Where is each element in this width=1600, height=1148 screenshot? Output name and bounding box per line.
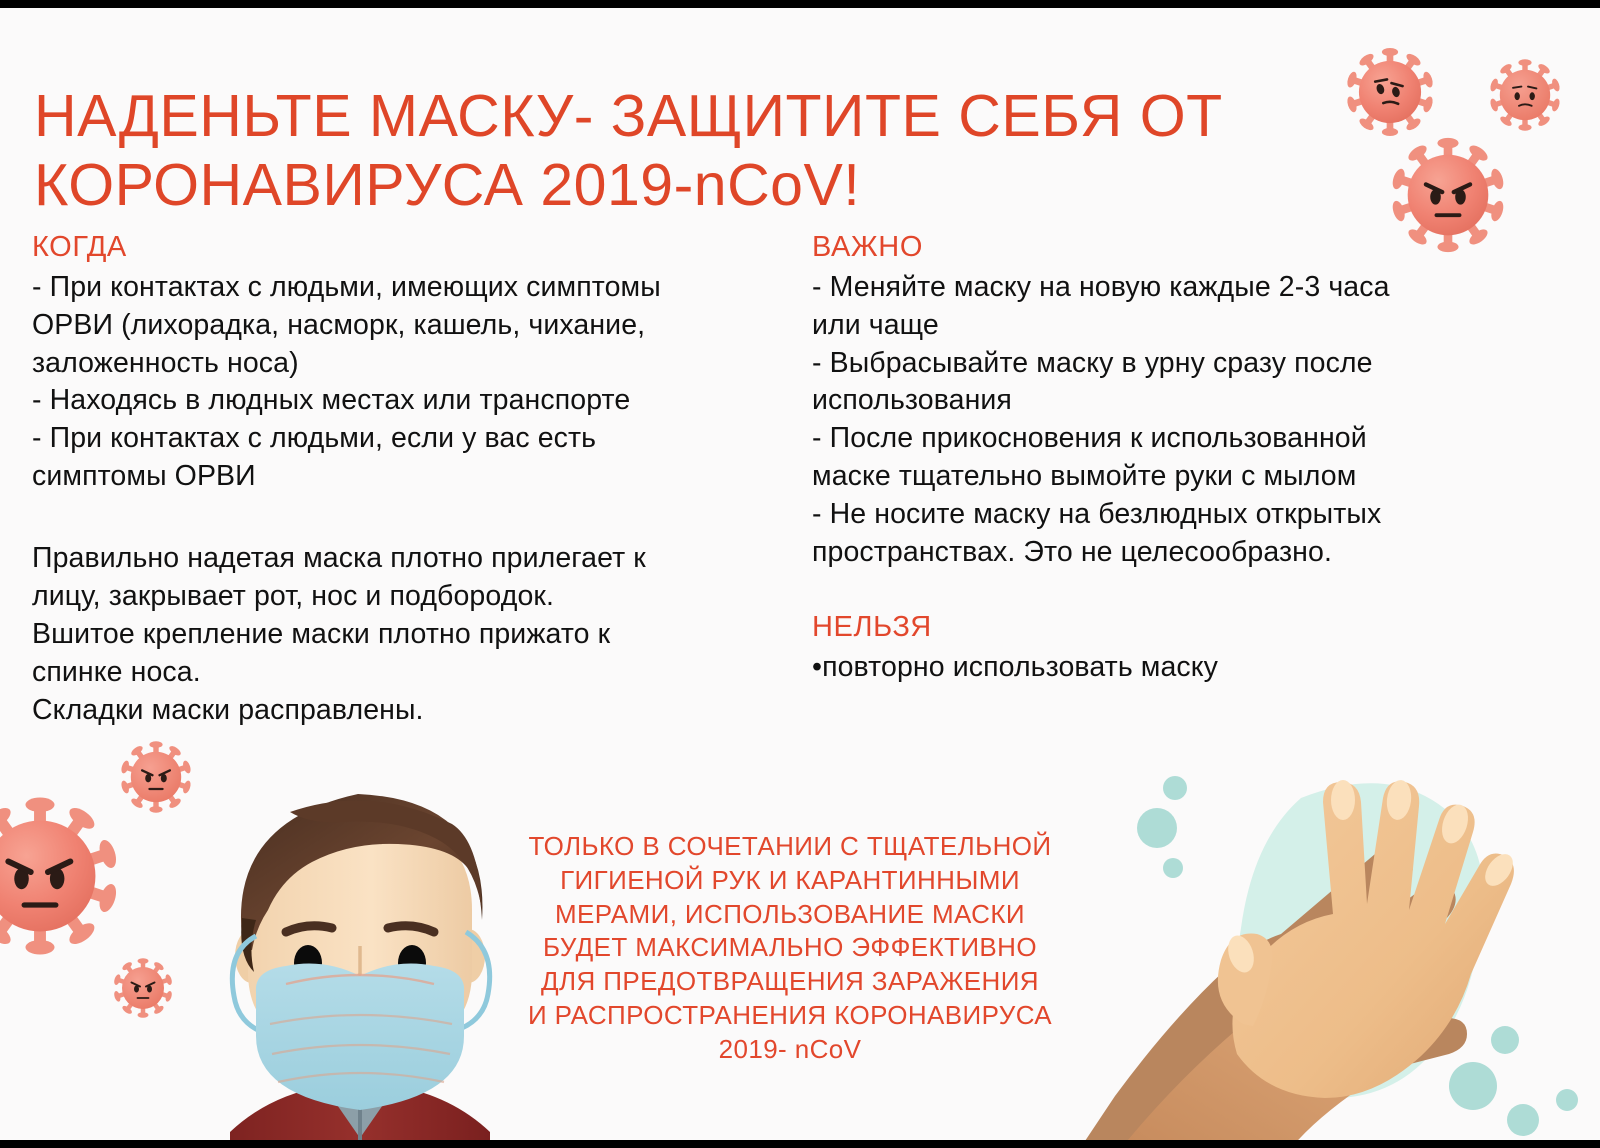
mask-loop-right <box>462 932 490 1028</box>
hair <box>241 794 482 972</box>
nail <box>1480 849 1519 891</box>
ear-right <box>451 929 485 983</box>
virus-icon <box>1489 59 1561 130</box>
surgical-mask <box>256 964 464 1110</box>
soap-foam <box>1237 783 1483 1098</box>
kogda-list: - При контактах с людьми, имеющих симпто… <box>32 269 792 496</box>
virus-icon <box>1346 48 1435 136</box>
nail <box>1437 801 1472 846</box>
left-column: КОГДА - При контактах с людьми, имеющих … <box>32 230 792 730</box>
boy-with-mask-illustration <box>190 760 530 1148</box>
virus-icon <box>0 797 119 954</box>
bubble <box>1137 808 1177 848</box>
virus-icon <box>120 741 192 812</box>
vazhno-list: - Меняйте маску на новую каждые 2-3 часа… <box>812 269 1512 572</box>
shirt <box>230 1080 490 1148</box>
nose <box>350 946 360 980</box>
infographic-poster: НАДЕНЬТЕ МАСКУ- ЗАЩИТИТЕ СЕБЯ ОТ КОРОНАВ… <box>0 0 1600 1148</box>
bubble <box>1449 1062 1497 1110</box>
handwashing-illustration <box>1075 738 1595 1148</box>
face <box>248 812 472 1060</box>
eye-right <box>398 945 426 981</box>
virus-cluster-bottom-left <box>0 726 250 1016</box>
bubble <box>1556 1089 1578 1111</box>
bubble <box>1163 776 1187 800</box>
ear-left <box>235 929 269 983</box>
bottom-callout-text: ТОЛЬКО В СОЧЕТАНИИ С ТЩАТЕЛЬНОЙ ГИГИЕНОЙ… <box>505 830 1075 1067</box>
section-heading-kogda: КОГДА <box>32 230 792 265</box>
mask-fit-note: Правильно надетая маска плотно прилегает… <box>32 540 792 729</box>
virus-icon <box>113 958 173 1018</box>
nail <box>1224 932 1259 976</box>
mask-loop-left <box>232 936 262 1032</box>
eye-left <box>294 945 322 981</box>
bubble <box>1507 1104 1539 1136</box>
forearm <box>1115 1000 1375 1148</box>
nelzya-list: •повторно использовать маску <box>812 649 1512 687</box>
back-hand <box>1075 848 1474 1148</box>
section-heading-nelzya: НЕЛЬЗЯ <box>812 610 1512 645</box>
eyebrow-right <box>388 926 434 932</box>
nail <box>1331 780 1355 820</box>
bubble <box>1491 1026 1519 1054</box>
page-title: НАДЕНЬТЕ МАСКУ- ЗАЩИТИТЕ СЕБЯ ОТ КОРОНАВ… <box>34 82 1294 221</box>
front-hand <box>1218 779 1519 1098</box>
eyebrow-left <box>286 926 332 932</box>
right-column: ВАЖНО - Меняйте маску на новую каждые 2-… <box>812 230 1512 687</box>
neck <box>330 1046 390 1104</box>
section-heading-vazhno: ВАЖНО <box>812 230 1512 265</box>
nail <box>1385 779 1414 822</box>
bubble <box>1163 858 1183 878</box>
